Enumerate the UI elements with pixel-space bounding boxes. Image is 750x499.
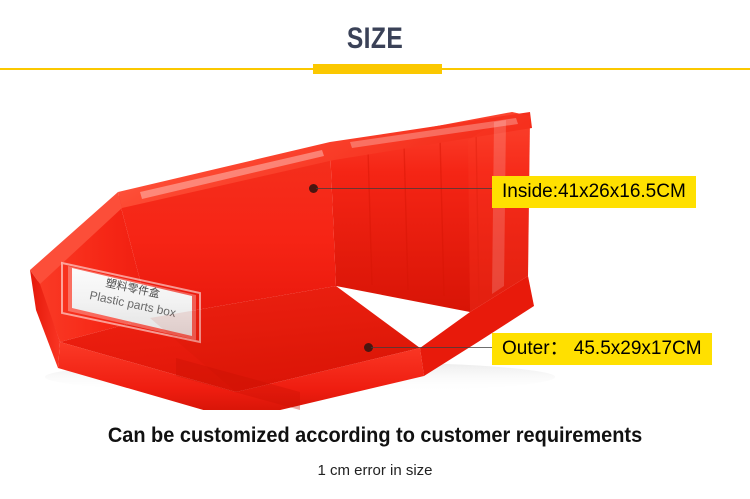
footer-headline: Can be customized according to customer …: [19, 424, 732, 448]
size-spec-banner: SIZE: [0, 0, 750, 499]
footer-note: 1 cm error in size: [0, 462, 750, 479]
callout-label-inside-dimensions: Inside:41x26x16.5CM: [492, 176, 696, 208]
page-title: SIZE: [68, 22, 683, 56]
callout-leader-line-inside: [316, 188, 496, 189]
callout-leader-line-outer: [371, 347, 496, 348]
callout-label-outer-dimensions: Outer： 45.5x29x17CM: [492, 333, 712, 365]
header-divider-accent-bar: [313, 64, 442, 74]
